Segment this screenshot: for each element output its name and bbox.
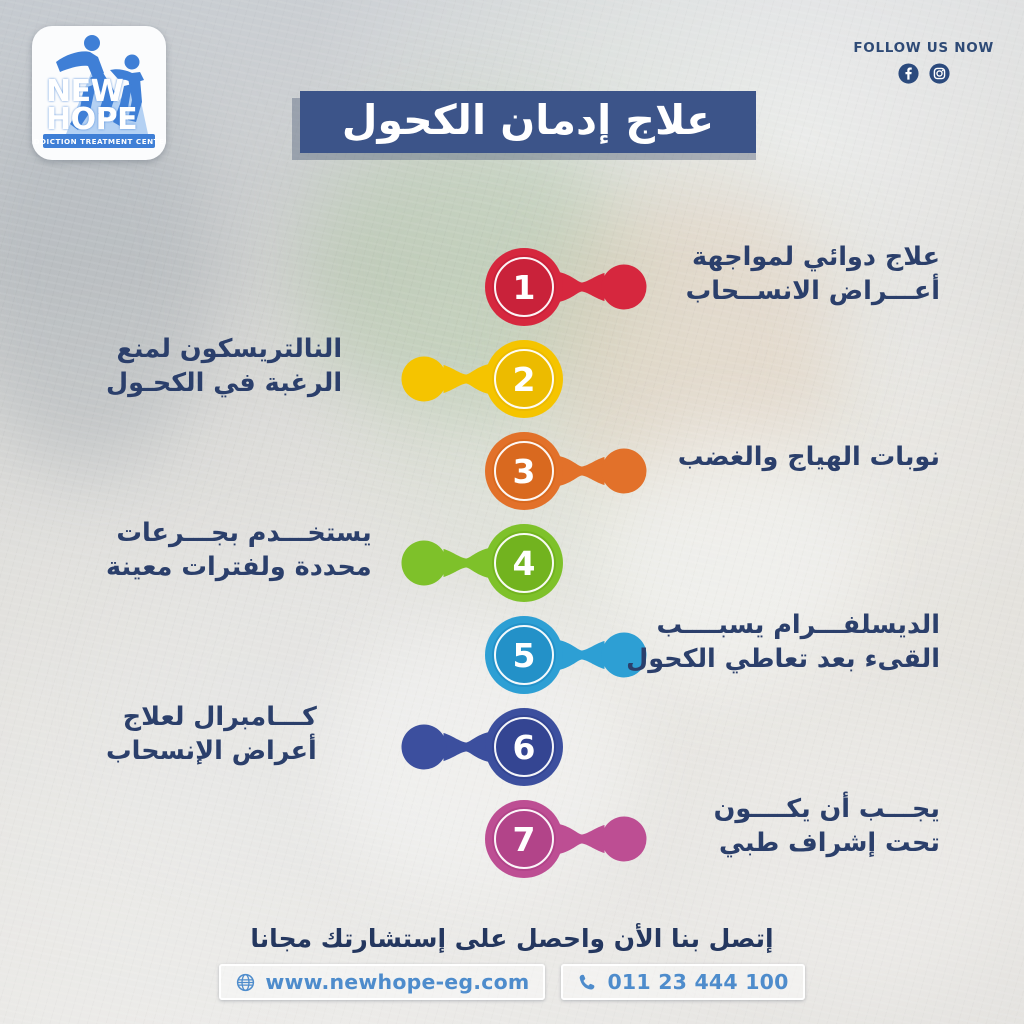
follow-us-block: FOLLOW US NOW: [853, 40, 994, 84]
facebook-icon[interactable]: [898, 63, 919, 84]
step-number: 7: [485, 800, 563, 878]
logo-tagline: ADDICTION TREATMENT CENTER: [32, 137, 166, 146]
instagram-icon[interactable]: [929, 63, 950, 84]
step-number: 6: [485, 708, 563, 786]
globe-icon: [235, 972, 256, 993]
logo-line-2: HOPE: [46, 106, 137, 134]
step-number: 3: [485, 432, 563, 510]
phone-icon: [577, 972, 598, 993]
website-label: www.newhope-eg.com: [265, 970, 529, 994]
page-title-banner: علاج إدمان الكحول: [300, 91, 756, 153]
phone-label: 011 23 444 100: [607, 970, 788, 994]
step-label: الديسلفـــرام يسبــــب القىء بعد تعاطي ا…: [626, 608, 940, 676]
logo-wordmark: NEW HOPE: [46, 78, 137, 133]
step-label: يجـــب أن يكــــون تحت إشراف طبي: [714, 792, 940, 860]
footer: إتصل بنا الأن واحصل على إستشارتك مجانا w…: [0, 924, 1024, 1000]
step-item: 7يجـــب أن يكــــون تحت إشراف طبي: [0, 780, 1024, 898]
website-button[interactable]: www.newhope-eg.com: [219, 964, 545, 1000]
page-title: علاج إدمان الكحول: [342, 100, 714, 141]
infographic-poster: NEW HOPE ADDICTION TREATMENT CENTER FOLL…: [0, 0, 1024, 1024]
phone-button[interactable]: 011 23 444 100: [561, 964, 804, 1000]
follow-us-label: FOLLOW US NOW: [853, 40, 994, 56]
brand-logo: NEW HOPE ADDICTION TREATMENT CENTER: [32, 26, 166, 160]
step-label: يستخـــدم بجـــرعات محددة ولفترات معينة: [106, 516, 372, 584]
step-number: 4: [485, 524, 563, 602]
step-label: كـــامبرال لعلاج أعراض الإنسحاب: [106, 700, 317, 768]
step-number: 2: [485, 340, 563, 418]
logo-tagline-bar: ADDICTION TREATMENT CENTER: [43, 134, 155, 148]
step-label: علاج دوائي لمواجهة أعـــراض الانســحاب: [686, 240, 940, 308]
footer-cta-text: إتصل بنا الأن واحصل على إستشارتك مجانا: [0, 924, 1024, 953]
step-label: نوبات الهياج والغضب: [678, 440, 940, 474]
step-number: 5: [485, 616, 563, 694]
step-number: 1: [485, 248, 563, 326]
step-label: النالتريسكون لمنع الرغبة في الكحـول: [106, 332, 342, 400]
